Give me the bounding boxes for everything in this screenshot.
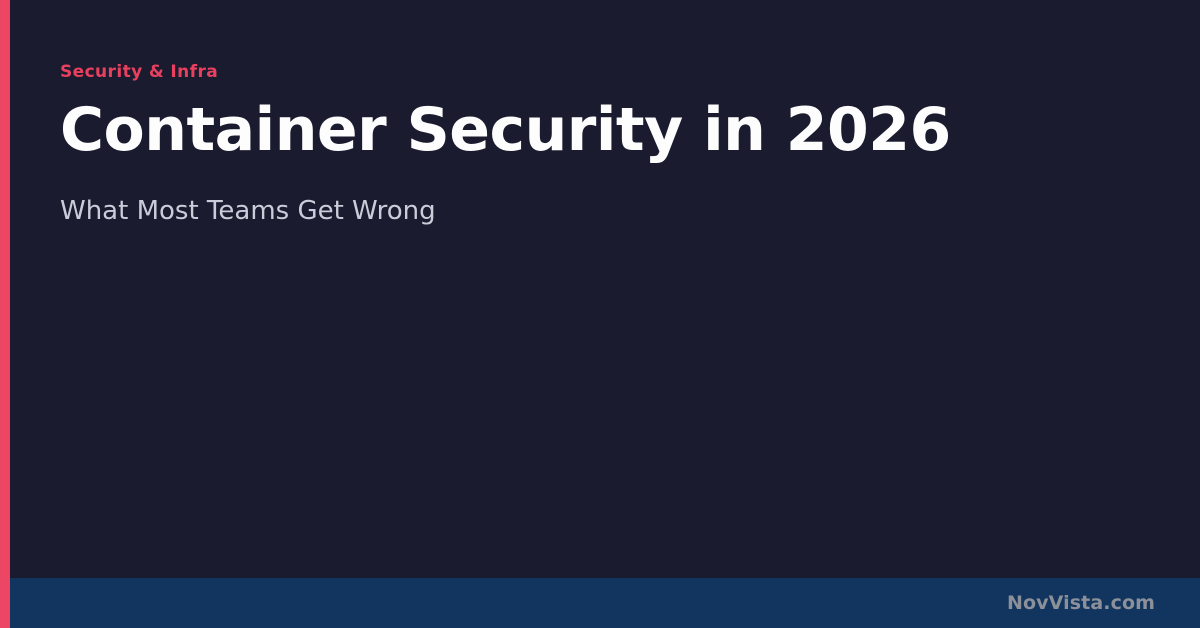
presentation-slide: Security & Infra Container Security in 2… (0, 0, 1200, 628)
footer-brand-label: NovVista.com (1007, 592, 1155, 614)
left-accent-bar (0, 0, 10, 628)
footer-bar: NovVista.com (0, 578, 1200, 628)
slide-subtitle: What Most Teams Get Wrong (60, 194, 436, 228)
category-eyebrow: Security & Infra (60, 60, 218, 84)
slide-title: Container Security in 2026 (60, 95, 951, 165)
